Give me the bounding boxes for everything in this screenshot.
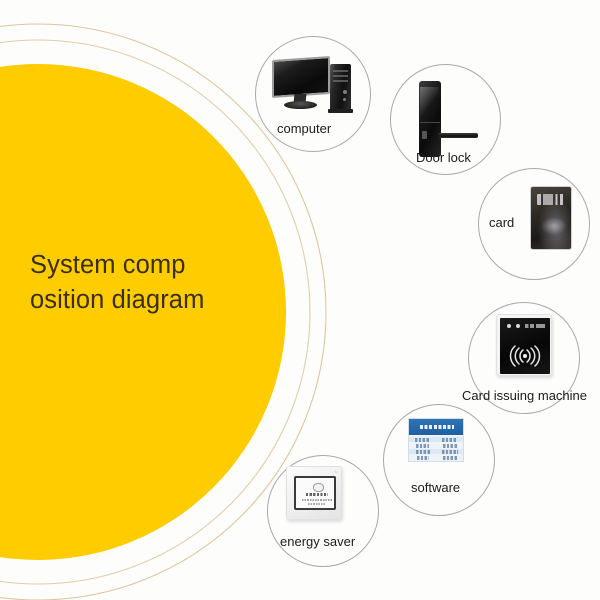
- node-energy-saver-label: energy saver: [280, 534, 355, 549]
- page-title: System comp osition diagram: [30, 248, 270, 318]
- energy-saver-switch-icon: [286, 466, 344, 522]
- software-table-cell: [443, 456, 457, 460]
- node-software[interactable]: software: [383, 404, 495, 516]
- node-computer[interactable]: computer: [255, 36, 371, 152]
- tower-foot-icon: [328, 109, 353, 113]
- reader-led-icon: [507, 324, 511, 328]
- software-table-cell: [443, 444, 457, 448]
- software-table-row: [412, 456, 462, 460]
- tower-port-dot-icon: [343, 98, 346, 101]
- monitor-screen-icon: [272, 56, 330, 98]
- rfid-wave-icon: [506, 344, 544, 368]
- node-computer-label: computer: [277, 121, 331, 136]
- card-body-icon: [530, 186, 572, 250]
- software-table-cell: [416, 444, 429, 448]
- switch-faceplate-icon: [286, 466, 342, 520]
- tower-slot-icon: [333, 80, 348, 82]
- switch-card-slot-icon: [294, 476, 336, 510]
- software-table-cell: [415, 438, 430, 442]
- system-composition-diagram: System comp osition diagram computer: [0, 0, 600, 600]
- card-print-mark-icon: [537, 194, 565, 205]
- software-table-row: [412, 438, 462, 442]
- node-card-issuing-machine[interactable]: Card issuing machine: [468, 302, 580, 414]
- node-door-lock-label: Door lock: [416, 150, 471, 165]
- tower-slot-icon: [333, 70, 348, 72]
- door-lock-icon: [405, 81, 485, 159]
- desktop-computer-icon: [272, 58, 354, 114]
- card-sheen-icon: [541, 217, 567, 235]
- reader-frame-icon: [496, 314, 552, 376]
- page-title-line-2: osition diagram: [30, 283, 270, 318]
- software-title-text-icon: [420, 425, 454, 429]
- lock-keyhole-icon: [422, 131, 427, 139]
- node-card-label: card: [489, 215, 514, 230]
- reader-led-icon: [516, 324, 520, 328]
- switch-label-line-icon: [302, 499, 332, 501]
- switch-indicator-dot-icon: [335, 471, 337, 473]
- lock-seam-icon: [420, 122, 440, 123]
- software-title-bar-icon: [409, 419, 463, 435]
- tower-power-dot-icon: [343, 90, 347, 94]
- computer-tower-icon: [330, 64, 351, 111]
- monitor-base-icon: [284, 101, 317, 109]
- node-energy-saver[interactable]: energy saver: [267, 455, 379, 567]
- page-title-line-1: System comp: [30, 248, 270, 283]
- switch-symbol-icon: [313, 483, 324, 492]
- software-table-row: [412, 450, 462, 454]
- node-card[interactable]: card: [478, 168, 590, 280]
- node-door-lock[interactable]: Door lock: [390, 64, 501, 175]
- software-table-cell: [442, 438, 457, 442]
- switch-label-line-icon: [308, 503, 326, 505]
- rfid-card-icon: [530, 186, 574, 252]
- software-table-cell: [442, 450, 458, 454]
- software-window-frame-icon: [408, 418, 464, 462]
- software-window-icon: [408, 418, 466, 464]
- reader-face-icon: [500, 318, 550, 374]
- switch-label-line-icon: [306, 493, 328, 496]
- software-table-row: [412, 444, 462, 448]
- node-software-label: software: [411, 480, 460, 495]
- tower-slot-icon: [333, 75, 348, 77]
- software-table-cell: [417, 456, 429, 460]
- card-reader-icon: [496, 314, 554, 378]
- node-card-issuing-machine-label: Card issuing machine: [462, 388, 587, 403]
- reader-brand-text-icon: [525, 324, 545, 328]
- lock-handle-icon: [438, 133, 478, 138]
- software-table-cell: [416, 450, 430, 454]
